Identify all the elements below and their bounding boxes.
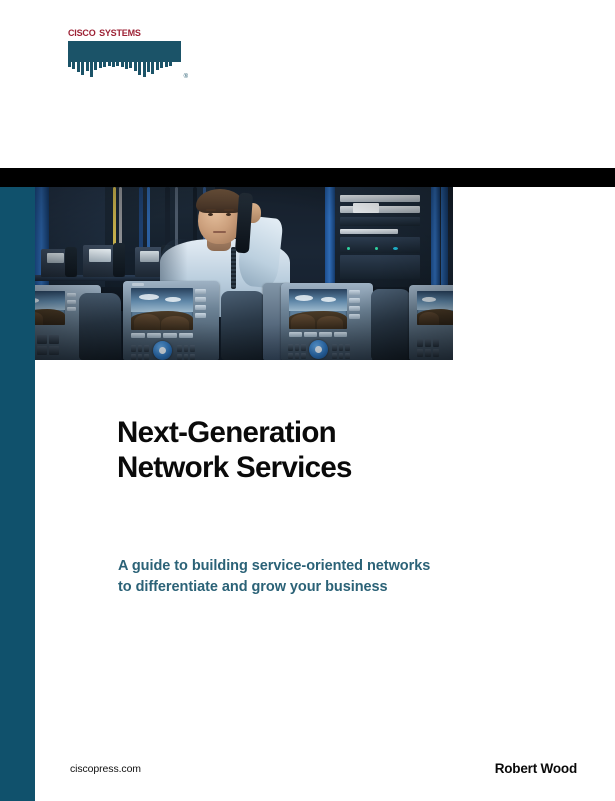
person-eye-right xyxy=(226,213,231,216)
ip-phone-4-screen-cloud-2 xyxy=(321,297,336,302)
cisco-bridge-icon: ® xyxy=(68,41,181,81)
cisco-bridge-bar-10 xyxy=(108,62,111,66)
cisco-bridge-bar-13 xyxy=(121,62,124,67)
page-subtitle: A guide to building service-oriented net… xyxy=(118,556,538,598)
rack-label-panel xyxy=(353,203,379,213)
cisco-bridge-bar-11 xyxy=(112,62,115,67)
ip-phone-2-screen-hill-1 xyxy=(134,314,160,330)
ip-phone-5-handset xyxy=(371,289,411,360)
page-title: Next-Generation Network Services xyxy=(117,415,547,485)
ip-phone-2-handset xyxy=(79,293,121,360)
cable-blue-2 xyxy=(147,187,150,251)
background-phone-2-screen xyxy=(89,249,111,262)
ip-phone-4-navigation-wheel xyxy=(309,340,328,359)
cisco-bridge-bar-3 xyxy=(77,62,80,72)
rack-module-2 xyxy=(340,206,420,213)
cisco-bridge-bar-22 xyxy=(160,62,163,68)
handset-cord xyxy=(231,247,236,289)
ip-phone-2-navigation-center xyxy=(159,347,166,354)
rack-led-green-1 xyxy=(347,247,350,250)
subtitle-line-2: to differentiate and grow your business xyxy=(118,577,538,598)
cisco-bridge-bar-19 xyxy=(147,62,150,72)
cisco-bridge-bar-17 xyxy=(138,62,141,75)
ip-phone-2-keypad-right xyxy=(177,345,195,360)
ip-phone-4-keypad-left xyxy=(288,344,306,359)
ip-phone-4-screen-cloud-1 xyxy=(295,295,313,301)
ip-phone-4-softkeys xyxy=(289,332,347,337)
background-phone-1-handset xyxy=(65,247,77,277)
cisco-bridge-bar-21 xyxy=(156,62,159,70)
cisco-wordmark: Cisco Systems xyxy=(68,24,186,39)
ip-phone-2-screen xyxy=(131,288,193,330)
cisco-bridge-bar-4 xyxy=(81,62,84,75)
cisco-wordmark-cisco: Cisco xyxy=(68,24,96,39)
cisco-bridge-bar-5 xyxy=(86,62,89,71)
person-mouth xyxy=(213,231,226,233)
ip-phone-5-screen xyxy=(417,291,453,325)
book-cover: Cisco Systems ® xyxy=(0,0,615,801)
background-phone-2-handset xyxy=(113,243,125,277)
rack-module-5 xyxy=(340,237,420,253)
cisco-bridge-bar-15 xyxy=(129,62,132,68)
ip-phone-1-line-key-3 xyxy=(67,307,76,311)
cover-photo xyxy=(35,187,453,360)
background-phone-1-screen xyxy=(47,253,64,263)
cisco-bridge-bar-6 xyxy=(90,62,93,77)
photo-scene xyxy=(35,187,453,360)
ip-phone-4-keypad-right xyxy=(332,344,350,359)
ip-phone-2-screen-hill-2 xyxy=(161,316,189,330)
subtitle-line-1: A guide to building service-oriented net… xyxy=(118,556,538,577)
ip-phone-2-softkeys xyxy=(131,333,193,338)
cisco-bridge-block xyxy=(68,41,181,62)
cisco-bridge-bar-2 xyxy=(72,62,75,69)
cisco-bridge-bars xyxy=(68,62,181,79)
cisco-wordmark-systems: Systems xyxy=(99,24,141,39)
cisco-bridge-bar-24 xyxy=(169,62,172,66)
ip-phone-4-line-key-4 xyxy=(349,314,360,319)
black-band-divider xyxy=(0,168,615,187)
rack-module-1 xyxy=(340,195,420,202)
left-accent-stripe xyxy=(0,187,35,801)
title-line-1: Next-Generation xyxy=(117,415,547,450)
cisco-bridge-bar-14 xyxy=(125,62,128,69)
ip-phone-2-screen-cloud-2 xyxy=(165,297,181,302)
ip-phone-2-line-key-3 xyxy=(195,305,206,310)
rack-module-3 xyxy=(340,217,420,226)
ip-phone-2-line-key-1 xyxy=(195,289,206,294)
ip-phone-1-line-key-1 xyxy=(67,293,76,297)
ip-phone-2-navigation-wheel xyxy=(153,341,172,360)
ip-phone-5-screen-cloud xyxy=(422,297,436,302)
ip-phone-4-line-key-2 xyxy=(349,298,360,303)
cisco-bridge-bar-23 xyxy=(165,62,168,67)
cisco-bridge-bar-16 xyxy=(134,62,137,71)
ip-phone-2-keypad-left xyxy=(131,345,149,360)
registered-trademark-icon: ® xyxy=(184,74,188,80)
cisco-bridge-bar-12 xyxy=(116,62,119,66)
person-eye-left xyxy=(208,213,213,216)
ip-phone-2-brand-mark xyxy=(132,283,144,286)
cisco-bridge-bar-1 xyxy=(68,62,71,67)
ip-phone-2-line-key-2 xyxy=(195,297,206,302)
ip-phone-3-handset xyxy=(221,291,265,360)
author-name: Robert Wood xyxy=(495,761,577,776)
ip-phone-1-keypad xyxy=(35,335,59,355)
ip-phone-4-screen-hill-2 xyxy=(317,316,343,329)
rack-module-4 xyxy=(340,229,398,234)
rack-led-cyan xyxy=(393,247,398,250)
ip-phone-4-navigation-center xyxy=(315,346,322,353)
ip-phone-5-screen-hill xyxy=(419,312,439,325)
background-phone-3-screen xyxy=(140,251,159,262)
cisco-bridge-bar-18 xyxy=(143,62,146,77)
ip-phone-5-keypad xyxy=(417,339,439,357)
ip-phone-2-screen-sky xyxy=(131,288,193,312)
ip-phone-2-line-key-4 xyxy=(195,313,206,318)
ip-phone-4-line-key-1 xyxy=(349,290,360,295)
ip-phone-1-line-key-2 xyxy=(67,300,76,304)
ip-phone-2-screen-cloud-1 xyxy=(139,294,159,300)
rack-module-6 xyxy=(340,255,420,279)
cisco-bridge-bar-20 xyxy=(151,62,154,74)
ip-phone-4-screen xyxy=(289,289,347,329)
ip-phone-4-line-key-3 xyxy=(349,306,360,311)
person-brow-right xyxy=(224,209,234,211)
cisco-bridge-bar-9 xyxy=(103,62,106,67)
title-line-2: Network Services xyxy=(117,450,547,485)
rack-led-green-2 xyxy=(375,247,378,250)
ip-phone-1-screen-sky xyxy=(35,291,65,310)
person-brow-left xyxy=(206,209,216,211)
publisher-url[interactable]: ciscopress.com xyxy=(70,763,141,775)
cisco-bridge-bar-8 xyxy=(99,62,102,68)
ip-phone-1-screen xyxy=(35,291,65,325)
cisco-bridge-bar-7 xyxy=(94,62,97,70)
cisco-systems-logo: Cisco Systems ® xyxy=(68,24,186,82)
ip-phone-4-screen-hill-1 xyxy=(291,314,315,329)
